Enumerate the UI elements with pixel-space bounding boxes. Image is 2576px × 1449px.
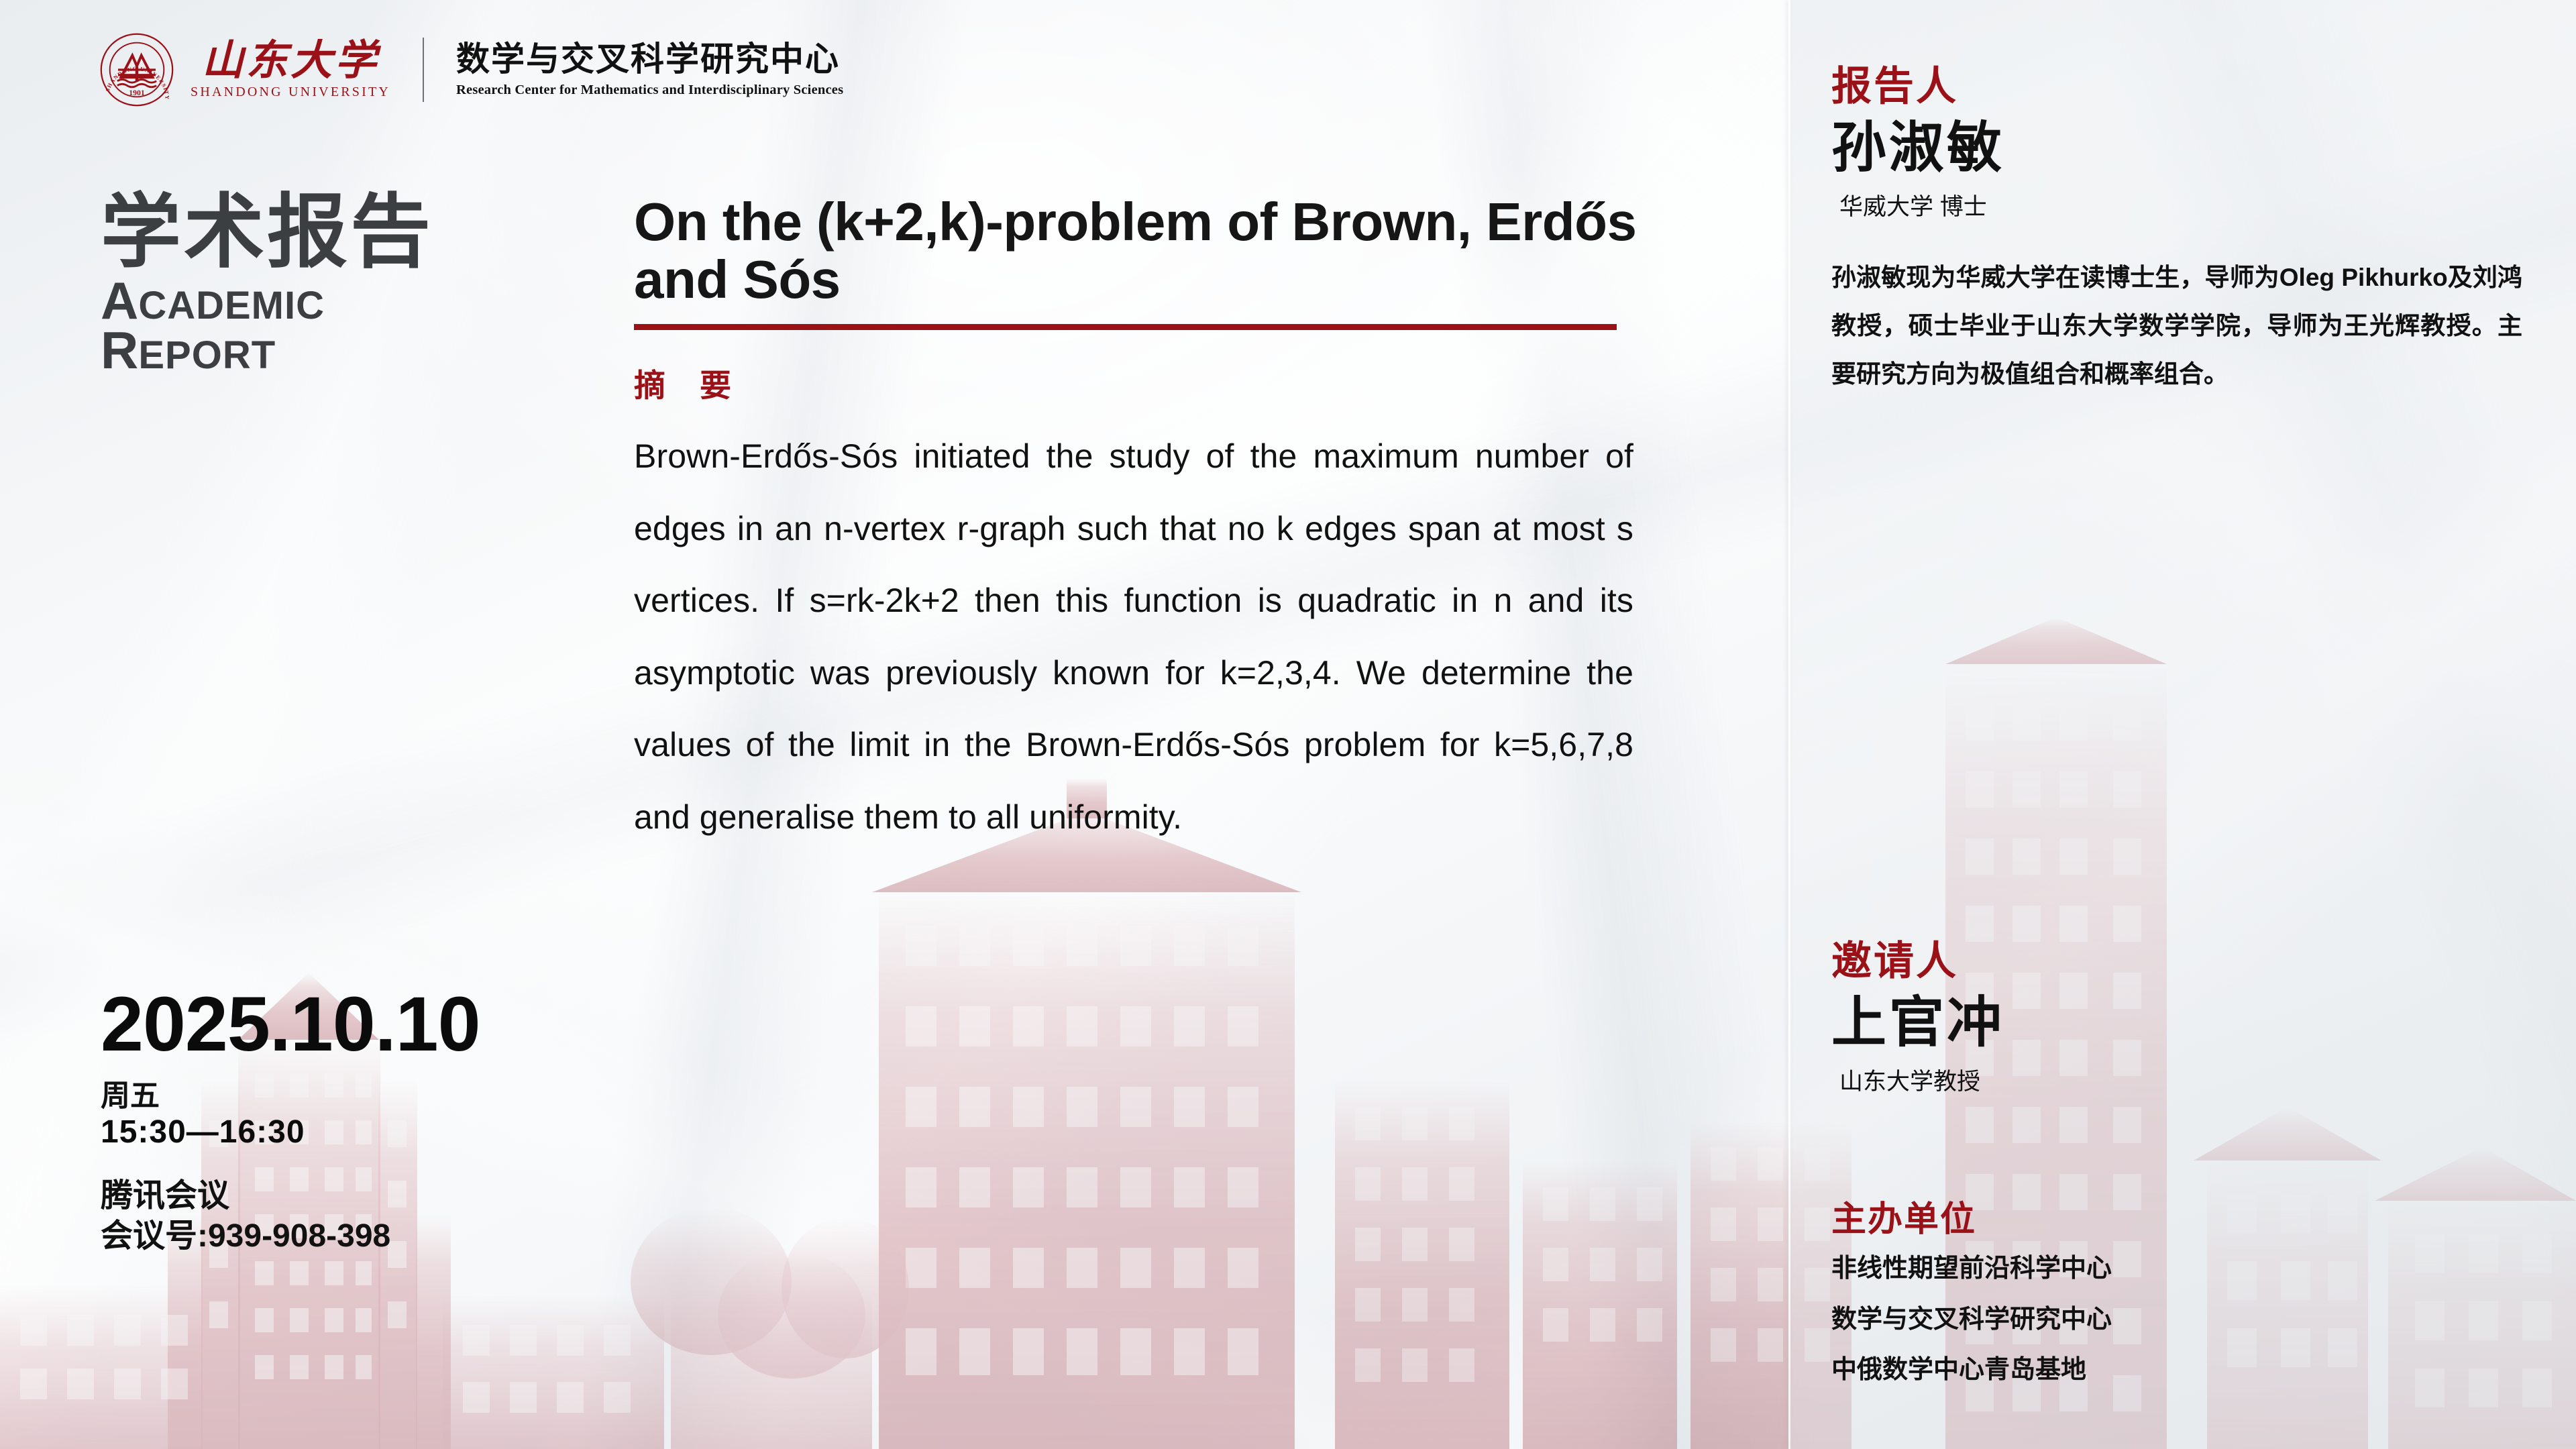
speaker-label: 报告人	[1831, 64, 2542, 109]
event-date: 2025.10.10	[101, 986, 610, 1063]
abstract-text: Brown-Erdős-Sós initiated the study of t…	[634, 421, 1633, 853]
title-underline-rule	[634, 324, 1617, 330]
event-meeting-id: 会议号:939-908-398	[101, 1216, 610, 1256]
inviter-name: 上官冲	[1831, 991, 2542, 1055]
heading-en-line-2-cap: R	[101, 321, 138, 380]
heading-en-line-1: ACADEMIC	[101, 276, 570, 325]
academic-report-heading-cn: 学术报告	[101, 191, 570, 273]
inviter-affiliation: 山东大学教授	[1839, 1067, 2542, 1097]
center-name-cn: 数学与交叉科学研究中心	[456, 42, 843, 77]
academic-report-heading-en: ACADEMIC REPORT	[101, 276, 570, 375]
speaker-block: 报告人 孙淑敏 华威大学 博士 孙淑敏现为华威大学在读博士生，导师为Oleg P…	[1831, 64, 2542, 398]
center-column: On the (k+2,k)-problem of Brown, Erdős a…	[634, 193, 1748, 853]
header-divider	[423, 38, 424, 102]
abstract-label: 摘 要	[634, 360, 1748, 406]
event-weekday: 周五	[101, 1079, 610, 1114]
heading-en-line-2: REPORT	[101, 325, 570, 375]
speaker-affiliation: 华威大学 博士	[1839, 192, 2542, 223]
heading-en-line-1-rest: CADEMIC	[138, 284, 325, 327]
research-center-name: 数学与交叉科学研究中心 Research Center for Mathemat…	[456, 42, 843, 98]
organizer-1: 非线性期望前沿科学中心	[1831, 1248, 2542, 1290]
heading-en-line-2-rest: EPORT	[138, 333, 276, 377]
speaker-bio: 孙淑敏现为华威大学在读博士生，导师为Oleg Pikhurko及刘鸿教授，硕士毕…	[1831, 254, 2522, 398]
shandong-university-emblem-icon: 1901 SHANDONG UNIVERSITY	[99, 32, 174, 107]
shandong-university-wordmark: 山东大学 SHANDONG UNIVERSITY	[191, 40, 390, 100]
organizer-label: 主办单位	[1831, 1201, 2542, 1239]
academic-report-poster: 1901 SHANDONG UNIVERSITY 山东大学 SHANDONG U…	[0, 0, 2576, 1449]
center-name-en: Research Center for Mathematics and Inte…	[456, 83, 843, 98]
talk-title: On the (k+2,k)-problem of Brown, Erdős a…	[634, 193, 1734, 308]
svg-text:1901: 1901	[129, 89, 145, 97]
left-column: 学术报告 ACADEMIC REPORT	[101, 191, 570, 376]
poster-header: 1901 SHANDONG UNIVERSITY 山东大学 SHANDONG U…	[99, 32, 843, 107]
organizer-2: 数学与交叉科学研究中心	[1831, 1299, 2542, 1341]
event-platform: 腾讯会议	[101, 1176, 610, 1216]
inviter-block: 邀请人 上官冲 山东大学教授	[1831, 939, 2542, 1097]
organizer-block: 主办单位 非线性期望前沿科学中心 数学与交叉科学研究中心 中俄数学中心青岛基地	[1831, 1201, 2542, 1391]
university-name-en: SHANDONG UNIVERSITY	[191, 85, 390, 100]
speaker-name: 孙淑敏	[1831, 117, 2542, 180]
event-datetime-block: 2025.10.10 周五 15:30—16:30 腾讯会议 会议号:939-9…	[101, 986, 610, 1256]
organizer-3: 中俄数学中心青岛基地	[1831, 1350, 2542, 1391]
inviter-label: 邀请人	[1831, 939, 2542, 983]
event-time-range: 15:30—16:30	[101, 1114, 610, 1150]
university-name-cn: 山东大学	[202, 40, 379, 82]
